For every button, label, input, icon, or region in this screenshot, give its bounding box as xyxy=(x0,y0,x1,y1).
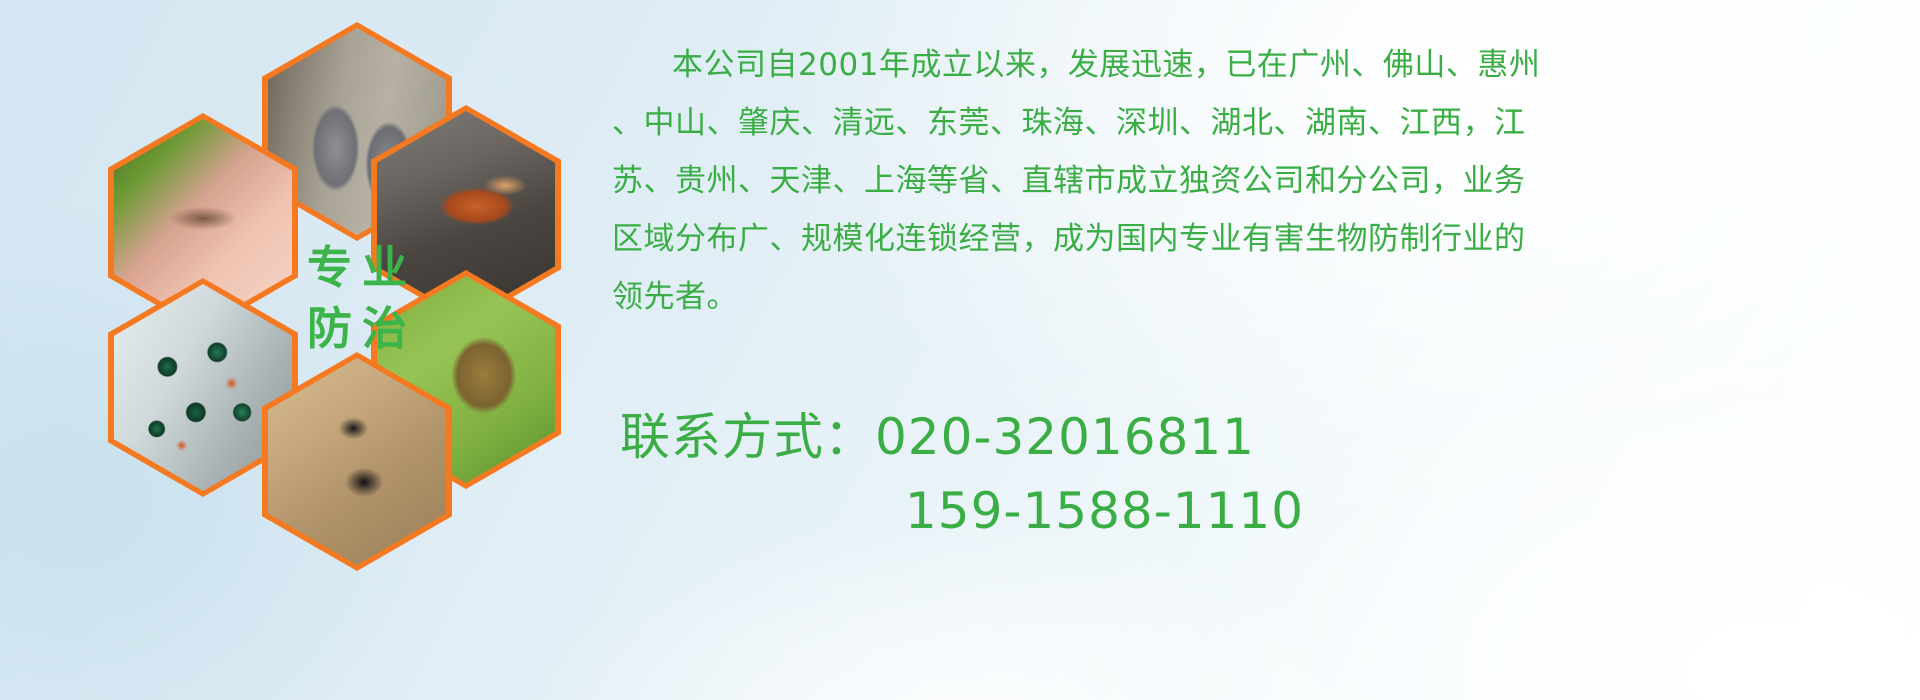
phone-primary[interactable]: 020-32016811 xyxy=(875,408,1255,466)
description-line-4: 区域分布广、规模化连锁经营，成为国内专业有害生物防制行业的 xyxy=(612,210,1902,268)
company-description: 本公司自2001年成立以来，发展迅速，已在广州、佛山、惠州 、中山、肇庆、清远、… xyxy=(612,36,1902,326)
description-line-3: 苏、贵州、天津、上海等省、直辖市成立独资公司和分公司，业务 xyxy=(612,152,1902,210)
description-line-1: 本公司自2001年成立以来，发展迅速，已在广州、佛山、惠州 xyxy=(612,36,1902,94)
phone-secondary[interactable]: 159-1588-1110 xyxy=(905,482,1304,540)
contact-label: 联系方式： xyxy=(620,408,875,466)
description-line-5: 领先者。 xyxy=(612,268,1902,326)
contact-block: 联系方式：020-32016811 159-1588-1110 xyxy=(620,400,1920,548)
contact-primary-line: 联系方式：020-32016811 xyxy=(620,400,1920,474)
slogan-line-1: 专业 xyxy=(297,245,417,290)
slogan-line-2: 防治 xyxy=(297,306,417,351)
description-line-2: 、中山、肇庆、清远、东莞、珠海、深圳、湖北、湖南、江西，江 xyxy=(612,94,1902,152)
contact-secondary-line: 159-1588-1110 xyxy=(620,474,1920,548)
honeycomb-gallery: 专业 防治 xyxy=(0,0,600,700)
